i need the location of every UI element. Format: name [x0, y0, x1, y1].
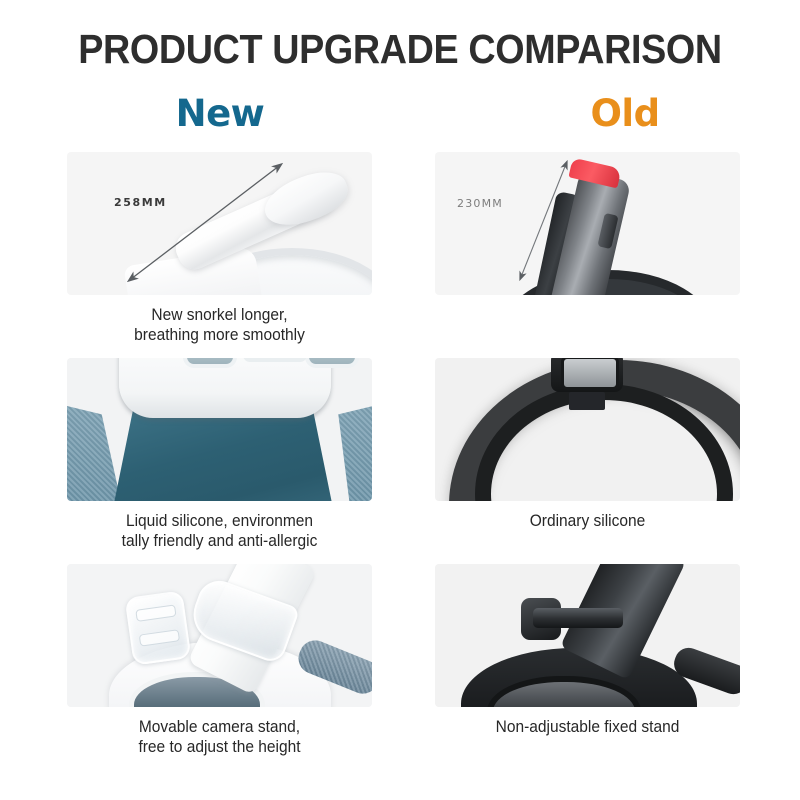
comparison-row-snorkel-length: 258MM New snorkel longer, breathing more…: [0, 152, 800, 358]
measurement-arrow-icon: [435, 152, 740, 295]
valve-port-right: [305, 358, 359, 368]
valve-tab-shape: [569, 392, 605, 410]
silicone-skirt-shape: S/M: [111, 408, 335, 501]
product-image-old-silicone: [435, 358, 740, 501]
silicone-old-illustration: [435, 358, 740, 501]
page-title: PRODUCT UPGRADE COMPARISON: [32, 26, 768, 73]
product-image-old-snorkel: 230MM: [435, 152, 740, 295]
center-window-shape: [243, 358, 307, 362]
dimension-label-new: 258MM: [114, 196, 167, 209]
column-header-new: New: [65, 92, 375, 136]
product-image-new-snorkel: 258MM: [67, 152, 372, 295]
movable-camera-mount-shape: [125, 590, 192, 665]
cell-old-snorkel-length: 230MM: [435, 152, 740, 306]
comparison-row-silicone-skirt: S/M Liquid silicone, environmen tally fr…: [0, 358, 800, 564]
product-image-new-silicone: S/M: [67, 358, 372, 501]
comparison-row-camera-stand: Movable camera stand, free to adjust the…: [0, 564, 800, 770]
cell-new-silicone: S/M Liquid silicone, environmen tally fr…: [67, 358, 372, 551]
product-image-old-camera-stand: [435, 564, 740, 707]
snorkel-old-illustration: 230MM: [435, 152, 740, 295]
cell-new-camera-stand: Movable camera stand, free to adjust the…: [67, 564, 372, 757]
camera-stand-old-illustration: [435, 564, 740, 707]
column-header-old: Old: [470, 92, 780, 136]
column-headers: New Old: [0, 92, 800, 138]
fixed-camera-mount-shape: [533, 608, 623, 628]
cell-old-silicone: Ordinary silicone: [435, 358, 740, 532]
caption-old-camera-stand: Non-adjustable fixed stand: [444, 718, 731, 738]
dimension-label-old: 230MM: [457, 197, 503, 210]
snorkel-new-illustration: 258MM: [67, 152, 372, 295]
mask-frame-shape: [119, 358, 331, 418]
measurement-arrow-icon: [67, 152, 372, 295]
caption-new-camera-stand: Movable camera stand, free to adjust the…: [76, 718, 363, 757]
caption-new-snorkel-length: New snorkel longer, breathing more smoot…: [76, 306, 363, 345]
center-window-shape: [561, 358, 619, 390]
cell-old-camera-stand: Non-adjustable fixed stand: [435, 564, 740, 738]
comparison-grid: 258MM New snorkel longer, breathing more…: [0, 152, 800, 770]
product-image-new-camera-stand: [67, 564, 372, 707]
valve-port-left: [183, 358, 237, 368]
camera-stand-new-illustration: [67, 564, 372, 707]
caption-old-silicone: Ordinary silicone: [444, 512, 731, 532]
cell-new-snorkel-length: 258MM New snorkel longer, breathing more…: [67, 152, 372, 345]
caption-new-silicone: Liquid silicone, environmen tally friend…: [76, 512, 363, 551]
silicone-new-illustration: S/M: [67, 358, 372, 501]
